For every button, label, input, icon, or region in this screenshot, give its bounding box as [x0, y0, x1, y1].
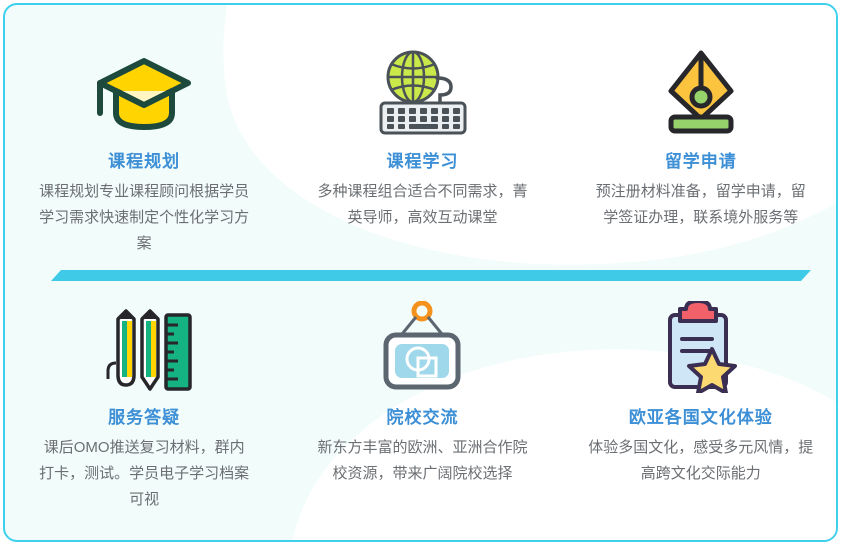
feature-card-service-qa[interactable]: 服务答疑 课后OMO推送复习材料，群内打卡，测试。学员电子学习档案可视: [5, 301, 283, 513]
feature-description: 多种课程组合适合不同需求，菁英导师，高效互动课堂: [315, 179, 530, 231]
features-row-bottom: 服务答疑 课后OMO推送复习材料，群内打卡，测试。学员电子学习档案可视 院校交流…: [5, 301, 838, 513]
features-row-top: 课程规划 课程规划专业课程顾问根据学员学习需求快速制定个性化学习方案: [5, 45, 838, 257]
pen-nib-icon: [653, 45, 749, 137]
feature-card-culture-experience[interactable]: 欧亚各国文化体验 体验多国文化，感受多元风情，提高跨文化交际能力: [562, 301, 838, 513]
graduation-cap-icon: [92, 45, 196, 137]
service-features-panel: 课程规划 课程规划专业课程顾问根据学员学习需求快速制定个性化学习方案: [3, 3, 838, 542]
hanging-signboard-icon: [372, 301, 472, 393]
keyboard-globe-icon: [367, 45, 477, 137]
feature-title: 课程规划: [108, 147, 180, 172]
clipboard-star-icon: [654, 301, 748, 393]
feature-description: 预注册材料准备，留学申请，留学签证办理，联系境外服务等: [593, 179, 808, 231]
feature-description: 课后OMO推送复习材料，群内打卡，测试。学员电子学习档案可视: [37, 435, 252, 513]
feature-title: 课程学习: [386, 147, 458, 172]
feature-title: 服务答疑: [108, 403, 180, 428]
pens-ruler-icon: [96, 301, 192, 393]
feature-card-study-abroad-application[interactable]: 留学申请 预注册材料准备，留学申请，留学签证办理，联系境外服务等: [562, 45, 838, 257]
feature-title: 院校交流: [386, 403, 458, 428]
feature-card-course-study[interactable]: 课程学习 多种课程组合适合不同需求，菁英导师，高效互动课堂: [283, 45, 561, 257]
section-divider: [51, 270, 811, 281]
feature-card-school-exchange[interactable]: 院校交流 新东方丰富的欧洲、亚洲合作院校资源，带来广阔院校选择: [283, 301, 561, 513]
feature-description: 课程规划专业课程顾问根据学员学习需求快速制定个性化学习方案: [37, 179, 252, 257]
feature-description: 体验多国文化，感受多元风情，提高跨文化交际能力: [586, 435, 816, 487]
feature-title: 留学申请: [665, 147, 737, 172]
feature-description: 新东方丰富的欧洲、亚洲合作院校资源，带来广阔院校选择: [315, 435, 530, 487]
feature-title: 欧亚各国文化体验: [629, 403, 773, 428]
feature-card-course-planning[interactable]: 课程规划 课程规划专业课程顾问根据学员学习需求快速制定个性化学习方案: [5, 45, 283, 257]
